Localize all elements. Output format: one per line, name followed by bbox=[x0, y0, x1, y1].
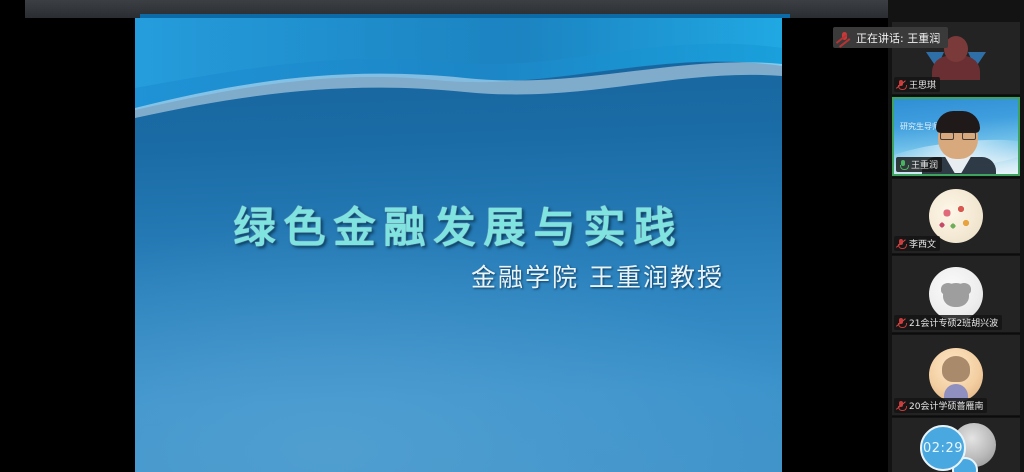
participant-tile-active-speaker[interactable]: 研究生导师 (2022) 王重润 bbox=[892, 97, 1020, 176]
participant-name-badge: 李西文 bbox=[894, 236, 940, 251]
mic-muted-icon bbox=[896, 239, 906, 249]
mic-muted-icon bbox=[838, 31, 851, 44]
mic-muted-icon bbox=[896, 80, 906, 90]
tile-divider bbox=[892, 333, 1020, 334]
participant-name: 21会计专硕2班胡兴波 bbox=[909, 316, 998, 329]
slide-title: 绿色金融发展与实践 bbox=[135, 194, 782, 255]
timer-badge: 02:29 bbox=[920, 425, 966, 471]
avatar bbox=[929, 348, 983, 402]
mic-muted-icon bbox=[896, 318, 906, 328]
shared-screen-stage: 绿色金融发展与实践 金融学院 王重润教授 bbox=[0, 18, 888, 472]
participant-name-badge: 王思琪 bbox=[894, 77, 940, 92]
mic-muted-icon bbox=[896, 401, 906, 411]
active-speaker-toast: 正在讲话: 王重润 bbox=[833, 27, 948, 48]
participant-tile[interactable]: 02:29 bbox=[892, 418, 1020, 472]
participant-name-badge: 王重润 bbox=[896, 157, 942, 172]
participant-name-badge: 20会计学硕蔷雁南 bbox=[894, 398, 987, 413]
participant-name: 李西文 bbox=[909, 237, 936, 250]
mic-active-icon bbox=[898, 160, 908, 170]
active-speaker-label: 正在讲话: 王重润 bbox=[856, 30, 940, 46]
slide-subtitle: 金融学院 王重润教授 bbox=[471, 258, 724, 294]
participant-name: 20会计学硕蔷雁南 bbox=[909, 399, 983, 412]
tile-divider bbox=[892, 177, 1020, 178]
participant-tile[interactable]: 20会计学硕蔷雁南 bbox=[892, 335, 1020, 415]
participant-video-strip[interactable]: 王思琪 研究生导师 (2022) 王重润 bbox=[888, 0, 1024, 472]
avatar bbox=[929, 267, 983, 321]
avatar-timer-cluster: 02:29 bbox=[908, 421, 1004, 469]
participant-name-badge: 21会计专硕2班胡兴波 bbox=[894, 315, 1002, 330]
participant-tile[interactable]: 21会计专硕2班胡兴波 bbox=[892, 256, 1020, 332]
slide-wave-decoration bbox=[135, 18, 782, 138]
avatar bbox=[929, 189, 983, 243]
participant-name: 王思琪 bbox=[909, 78, 936, 91]
tile-divider bbox=[892, 254, 1020, 255]
tile-divider bbox=[892, 416, 1020, 417]
meeting-screen-share-window: 绿色金融发展与实践 金融学院 王重润教授 正在讲话: 王重润 王思琪 bbox=[0, 0, 1024, 472]
participant-tile[interactable]: 李西文 bbox=[892, 179, 1020, 253]
presentation-slide: 绿色金融发展与实践 金融学院 王重润教授 bbox=[135, 18, 782, 472]
participant-name: 王重润 bbox=[911, 158, 938, 171]
tile-divider bbox=[892, 95, 1020, 96]
participant-video-area: 02:29 bbox=[892, 418, 1020, 472]
